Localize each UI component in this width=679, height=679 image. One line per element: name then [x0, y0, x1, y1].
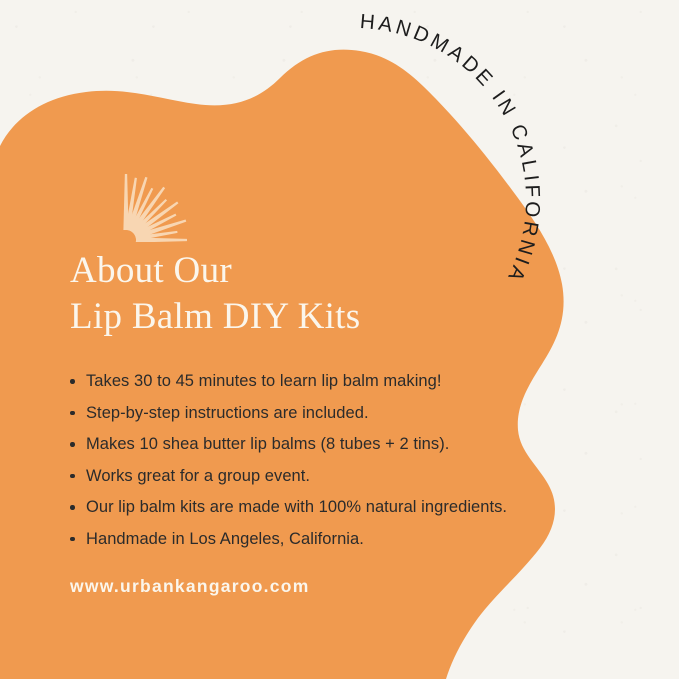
list-item: Handmade in Los Angeles, California. — [70, 524, 540, 556]
bullet-dot-icon — [70, 537, 75, 542]
list-item: Makes 10 shea butter lip balms (8 tubes … — [70, 429, 540, 461]
list-item: Step-by-step instructions are included. — [70, 398, 540, 430]
list-item: Works great for a group event. — [70, 461, 540, 493]
bullet-dot-icon — [70, 411, 75, 416]
bullet-dot-icon — [70, 379, 75, 384]
heading-line-2: Lip Balm DIY Kits — [70, 294, 540, 340]
heading-line-1: About Our — [70, 248, 540, 294]
poster-canvas: HANDMADE IN CALIFORNIA About Our Lip Bal… — [0, 0, 679, 679]
list-item-label: Works great for a group event. — [86, 467, 310, 485]
list-item: Takes 30 to 45 minutes to learn lip balm… — [70, 366, 540, 398]
list-item-label: Our lip balm kits are made with 100% nat… — [86, 498, 507, 516]
list-item-label: Step-by-step instructions are included. — [86, 404, 369, 422]
list-item-label: Makes 10 shea butter lip balms (8 tubes … — [86, 435, 449, 453]
content-block: About Our Lip Balm DIY Kits Takes 30 to … — [70, 248, 540, 597]
list-item: Our lip balm kits are made with 100% nat… — [70, 492, 540, 524]
page-title: About Our Lip Balm DIY Kits — [70, 248, 540, 340]
sunburst-icon — [60, 168, 192, 242]
list-item-label: Handmade in Los Angeles, California. — [86, 530, 364, 548]
bullet-dot-icon — [70, 505, 75, 510]
website-url[interactable]: www.urbankangaroo.com — [70, 576, 540, 597]
list-item-label: Takes 30 to 45 minutes to learn lip balm… — [86, 372, 442, 390]
bullet-dot-icon — [70, 474, 75, 479]
bullet-dot-icon — [70, 442, 75, 447]
feature-bullet-list: Takes 30 to 45 minutes to learn lip balm… — [70, 366, 540, 555]
